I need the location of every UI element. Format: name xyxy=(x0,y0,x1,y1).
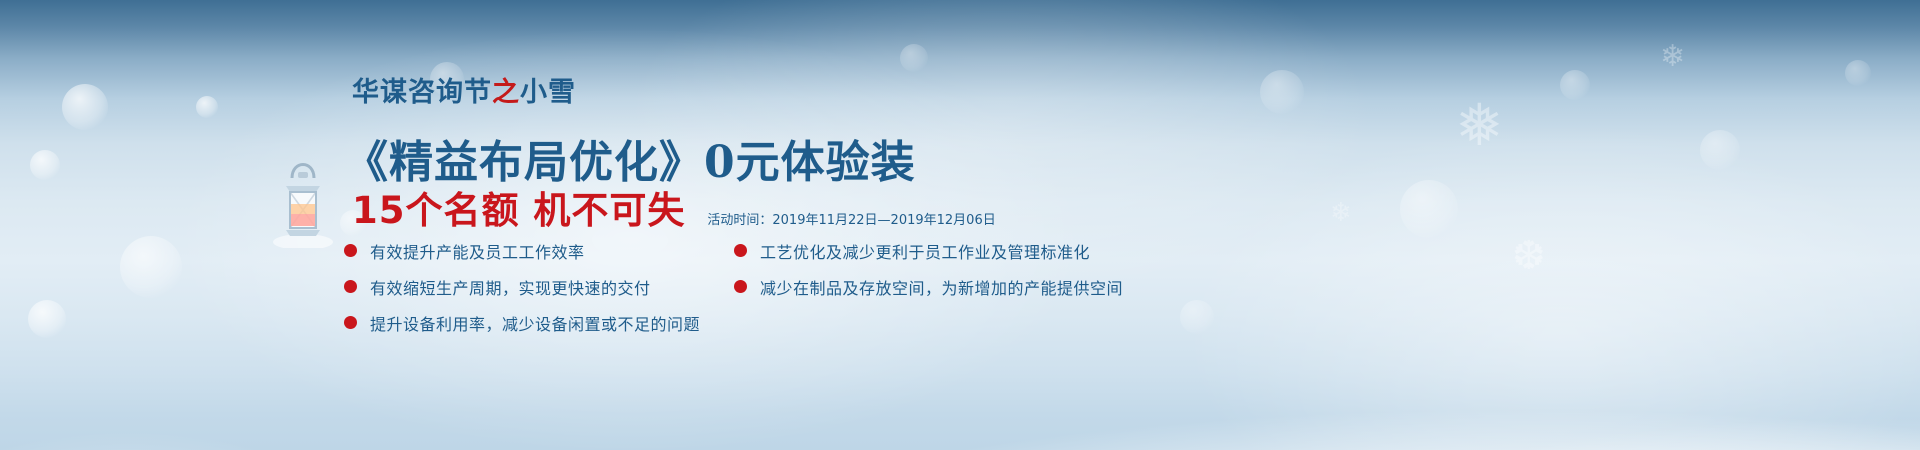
winter-promo-banner: ❅ ❆ ❄ ❄ 华谋咨询节之小雪 《精益布局优化》0元体验装 15个名额 机不可… xyxy=(0,0,1920,450)
bullet-column-left: 有效提升产能及员工工作效率 有效缩短生产周期，实现更快速的交付 提升设备利用率，… xyxy=(344,236,734,344)
list-item: 有效缩短生产周期，实现更快速的交付 xyxy=(344,272,734,301)
list-item: 有效提升产能及员工工作效率 xyxy=(344,236,734,265)
eyebrow-accent: 之 xyxy=(492,77,520,108)
bullet-text: 有效缩短生产周期，实现更快速的交付 xyxy=(370,275,651,299)
eyebrow-prefix: 华谋咨询节 xyxy=(352,77,492,108)
benefit-bullet-list: 有效提升产能及员工工作效率 有效缩短生产周期，实现更快速的交付 提升设备利用率，… xyxy=(344,236,1444,344)
bullet-column-right: 工艺优化及减少更利于员工作业及管理标准化 减少在制品及存放空间，为新增加的产能提… xyxy=(734,236,1254,344)
eyebrow-suffix: 小雪 xyxy=(520,77,576,108)
bullet-dot-icon xyxy=(344,280,357,293)
bullet-text: 减少在制品及存放空间，为新增加的产能提供空间 xyxy=(760,275,1123,299)
bullet-dot-icon xyxy=(734,280,747,293)
list-item: 减少在制品及存放空间，为新增加的产能提供空间 xyxy=(734,272,1254,301)
bullet-text: 工艺优化及减少更利于员工作业及管理标准化 xyxy=(760,239,1090,263)
bullet-dot-icon xyxy=(734,244,747,257)
banner-subline-row: 15个名额 机不可失 活动时间：2019年11月22日—2019年12月06日 xyxy=(352,180,996,234)
bullet-text: 提升设备利用率，减少设备闲置或不足的问题 xyxy=(370,311,700,335)
banner-content: 华谋咨询节之小雪 《精益布局优化》0元体验装 15个名额 机不可失 活动时间：2… xyxy=(0,0,1920,450)
bullet-text: 有效提升产能及员工工作效率 xyxy=(370,239,585,263)
list-item: 提升设备利用率，减少设备闲置或不足的问题 xyxy=(344,308,734,337)
list-item: 工艺优化及减少更利于员工作业及管理标准化 xyxy=(734,236,1254,265)
bullet-dot-icon xyxy=(344,244,357,257)
banner-eyebrow: 华谋咨询节之小雪 xyxy=(352,70,576,109)
activity-date-note: 活动时间：2019年11月22日—2019年12月06日 xyxy=(707,209,995,228)
bullet-dot-icon xyxy=(344,316,357,329)
banner-subline: 15个名额 机不可失 xyxy=(352,180,685,234)
